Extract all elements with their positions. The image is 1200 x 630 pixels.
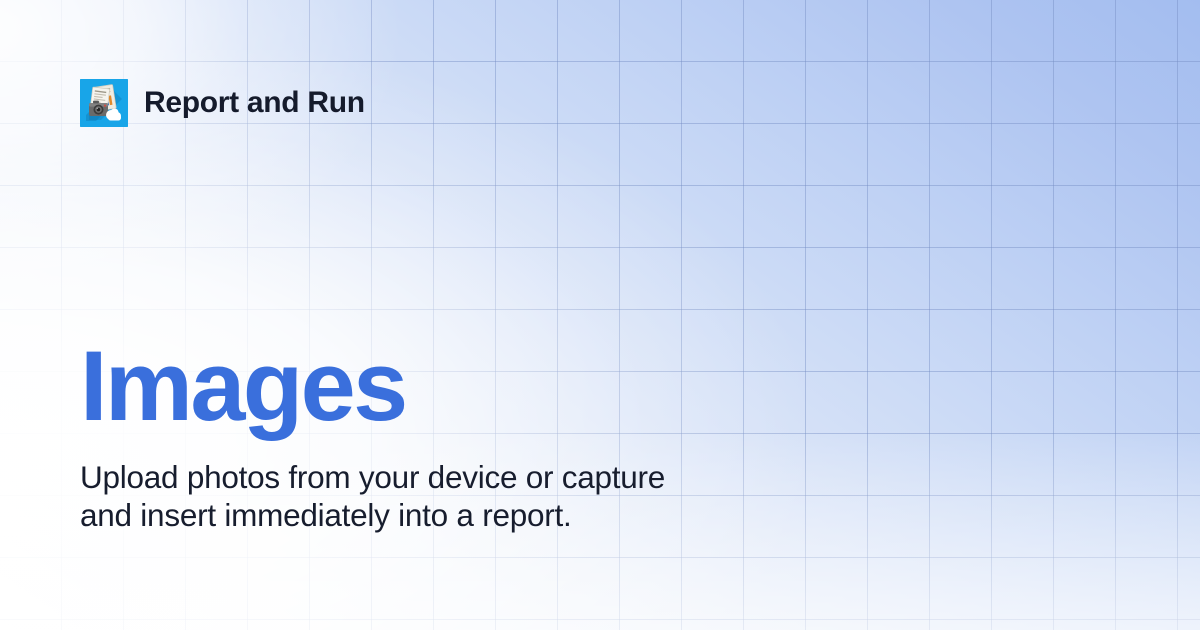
page-description-line-2: and insert immediately into a report.	[80, 496, 860, 534]
page-description: Upload photos from your device or captur…	[80, 458, 860, 535]
card-content: Report and Run Images Upload photos from…	[0, 0, 1200, 630]
brand-name: Report and Run	[144, 88, 365, 118]
page-description-line-1: Upload photos from your device or captur…	[80, 458, 860, 496]
hero-text-block: Images Upload photos from your device or…	[80, 336, 980, 535]
og-share-card: Report and Run Images Upload photos from…	[0, 0, 1200, 630]
brand-lockup: Report and Run	[80, 79, 365, 127]
report-and-run-logo-icon	[80, 79, 128, 127]
page-title: Images	[80, 336, 980, 435]
